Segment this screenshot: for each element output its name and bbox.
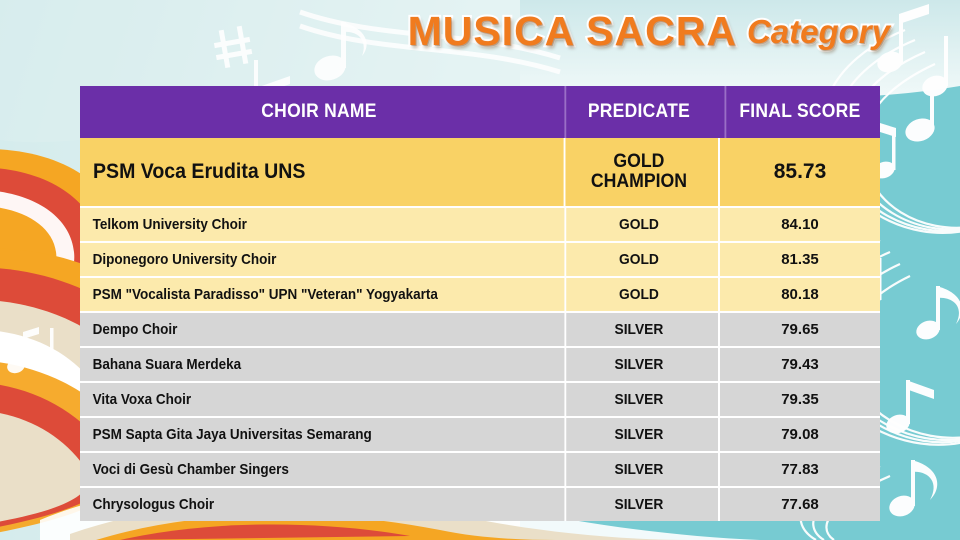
page-title: MUSICA SACRACategory	[0, 8, 890, 55]
cell-final-score: 79.43	[718, 348, 880, 381]
cell-choir-name: PSM Sapta Gita Jaya Universitas Semarang	[80, 418, 510, 451]
cell-predicate: SILVER	[564, 383, 711, 416]
table-row: PSM "Vocalista Paradisso" UPN "Veteran" …	[80, 278, 880, 313]
cell-final-score: 81.35	[718, 243, 880, 276]
column-header-predicate: PREDICATE	[564, 86, 711, 138]
cell-predicate: SILVER	[564, 313, 711, 346]
table-row-champion: PSM Voca Erudita UNS GOLD CHAMPION 85.73	[80, 138, 880, 208]
predicate-line-2: CHAMPION	[591, 172, 687, 192]
cell-final-score: 79.65	[718, 313, 880, 346]
table-row: Diponegoro University ChoirGOLD81.35	[80, 243, 880, 278]
slide-canvas: MUSICA SACRACategory CHOIR NAME PREDICAT…	[0, 0, 960, 540]
cell-choir-name: PSM "Vocalista Paradisso" UPN "Veteran" …	[80, 278, 510, 311]
cell-choir-name: Voci di Gesù Chamber Singers	[80, 453, 510, 486]
cell-predicate: SILVER	[564, 348, 711, 381]
cell-final-score: 85.73	[718, 138, 880, 206]
table-header-row: CHOIR NAME PREDICATE FINAL SCORE	[80, 86, 880, 138]
table-row: PSM Sapta Gita Jaya Universitas Semarang…	[80, 418, 880, 453]
table-row: Dempo ChoirSILVER79.65	[80, 313, 880, 348]
table-body: Telkom University ChoirGOLD84.10Diponego…	[80, 208, 880, 521]
cell-predicate: GOLD	[564, 243, 711, 276]
table-row: Bahana Suara MerdekaSILVER79.43	[80, 348, 880, 383]
cell-choir-name: Bahana Suara Merdeka	[80, 348, 510, 381]
cell-predicate: GOLD	[564, 278, 711, 311]
cell-choir-name: Dempo Choir	[80, 313, 510, 346]
table-row: Telkom University ChoirGOLD84.10	[80, 208, 880, 243]
cell-final-score: 80.18	[718, 278, 880, 311]
cell-final-score: 79.08	[718, 418, 880, 451]
title-category-text: Category	[747, 13, 890, 51]
title-main-text: MUSICA SACRA	[408, 8, 737, 55]
cell-predicate: GOLD	[564, 208, 711, 241]
table-row: Voci di Gesù Chamber SingersSILVER77.83	[80, 453, 880, 488]
cell-predicate: SILVER	[564, 453, 711, 486]
results-table: CHOIR NAME PREDICATE FINAL SCORE PSM Voc…	[80, 86, 880, 521]
table-row: Chrysologus ChoirSILVER77.68	[80, 488, 880, 521]
column-header-choir-name: CHOIR NAME	[99, 86, 539, 138]
cell-choir-name: PSM Voca Erudita UNS	[80, 138, 525, 206]
cell-final-score: 79.35	[718, 383, 880, 416]
table-row: Vita Voxa ChoirSILVER79.35	[80, 383, 880, 418]
cell-final-score: 77.83	[718, 453, 880, 486]
cell-final-score: 77.68	[718, 488, 880, 521]
cell-final-score: 84.10	[718, 208, 880, 241]
cell-predicate: GOLD CHAMPION	[564, 138, 713, 206]
cell-choir-name: Vita Voxa Choir	[80, 383, 510, 416]
cell-choir-name: Diponegoro University Choir	[80, 243, 510, 276]
cell-predicate: SILVER	[564, 488, 711, 521]
cell-choir-name: Telkom University Choir	[80, 208, 510, 241]
cell-predicate: SILVER	[564, 418, 711, 451]
column-header-final-score: FINAL SCORE	[724, 86, 873, 138]
cell-choir-name: Chrysologus Choir	[80, 488, 510, 521]
predicate-line-1: GOLD	[591, 152, 687, 172]
